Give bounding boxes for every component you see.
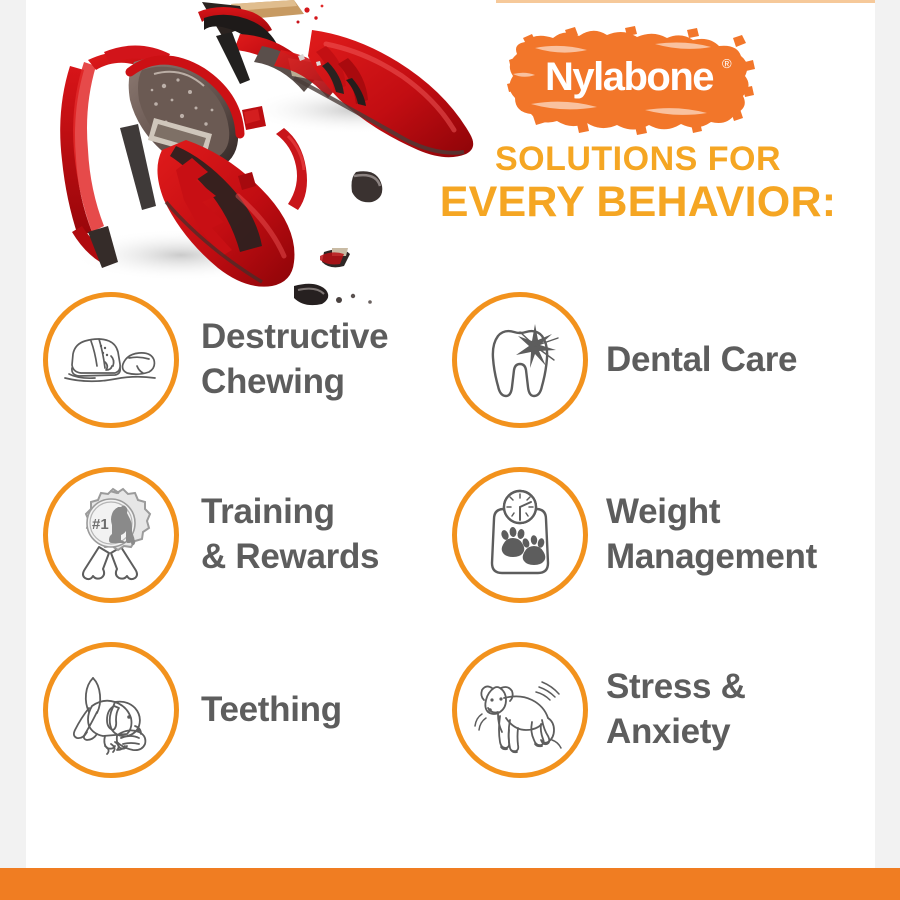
registered-trademark-icon: ® bbox=[722, 56, 732, 71]
chewed-shoe-icon bbox=[43, 292, 179, 428]
behavior-item-training-rewards[interactable]: #1 Training & Rewards bbox=[43, 467, 463, 603]
sparkling-tooth-icon bbox=[452, 292, 588, 428]
behavior-label-training-rewards: Training & Rewards bbox=[201, 490, 379, 580]
behavior-item-teething[interactable]: Teething bbox=[43, 642, 463, 778]
label-line: Teething bbox=[201, 688, 342, 733]
behavior-label-destructive-chewing: Destructive Chewing bbox=[201, 315, 388, 405]
label-line: Dental Care bbox=[606, 338, 797, 383]
poster-page: Nylabone ® SOLUTIONS FOR EVERY BEHAVIOR: bbox=[0, 0, 900, 900]
puppy-chewing-toy-icon bbox=[43, 642, 179, 778]
label-line: Stress & bbox=[606, 665, 746, 710]
label-line: & Rewards bbox=[201, 535, 379, 580]
label-line: Management bbox=[606, 535, 817, 580]
behavior-grid: Destructive Chewing bbox=[26, 292, 875, 812]
behavior-label-weight-management: Weight Management bbox=[606, 490, 817, 580]
label-line: Training bbox=[201, 490, 379, 535]
behavior-item-weight-management[interactable]: Weight Management bbox=[452, 467, 872, 603]
paw-scale-icon bbox=[452, 467, 588, 603]
bottom-orange-bar bbox=[0, 868, 900, 900]
rank-badge-text: #1 bbox=[92, 516, 109, 533]
behavior-item-dental-care[interactable]: Dental Care bbox=[452, 292, 872, 428]
behavior-item-stress-anxiety[interactable]: Stress & Anxiety bbox=[452, 642, 872, 778]
label-line: Destructive bbox=[201, 315, 388, 360]
nylabone-wordmark: Nylabone bbox=[545, 55, 713, 99]
award-ribbon-dog-icon: #1 bbox=[43, 467, 179, 603]
trembling-dog-icon bbox=[452, 642, 588, 778]
headline-block: SOLUTIONS FOR EVERY BEHAVIOR: bbox=[400, 142, 876, 224]
headline-line-1: SOLUTIONS FOR bbox=[400, 142, 876, 176]
headline-line-2: EVERY BEHAVIOR: bbox=[400, 181, 876, 224]
nylabone-logo: Nylabone ® bbox=[505, 26, 755, 138]
behavior-label-stress-anxiety: Stress & Anxiety bbox=[606, 665, 746, 755]
label-line: Anxiety bbox=[606, 710, 746, 755]
label-line: Chewing bbox=[201, 360, 388, 405]
behavior-item-destructive-chewing[interactable]: Destructive Chewing bbox=[43, 292, 463, 428]
behavior-label-teething: Teething bbox=[201, 688, 342, 733]
label-line: Weight bbox=[606, 490, 817, 535]
behavior-label-dental-care: Dental Care bbox=[606, 338, 797, 383]
